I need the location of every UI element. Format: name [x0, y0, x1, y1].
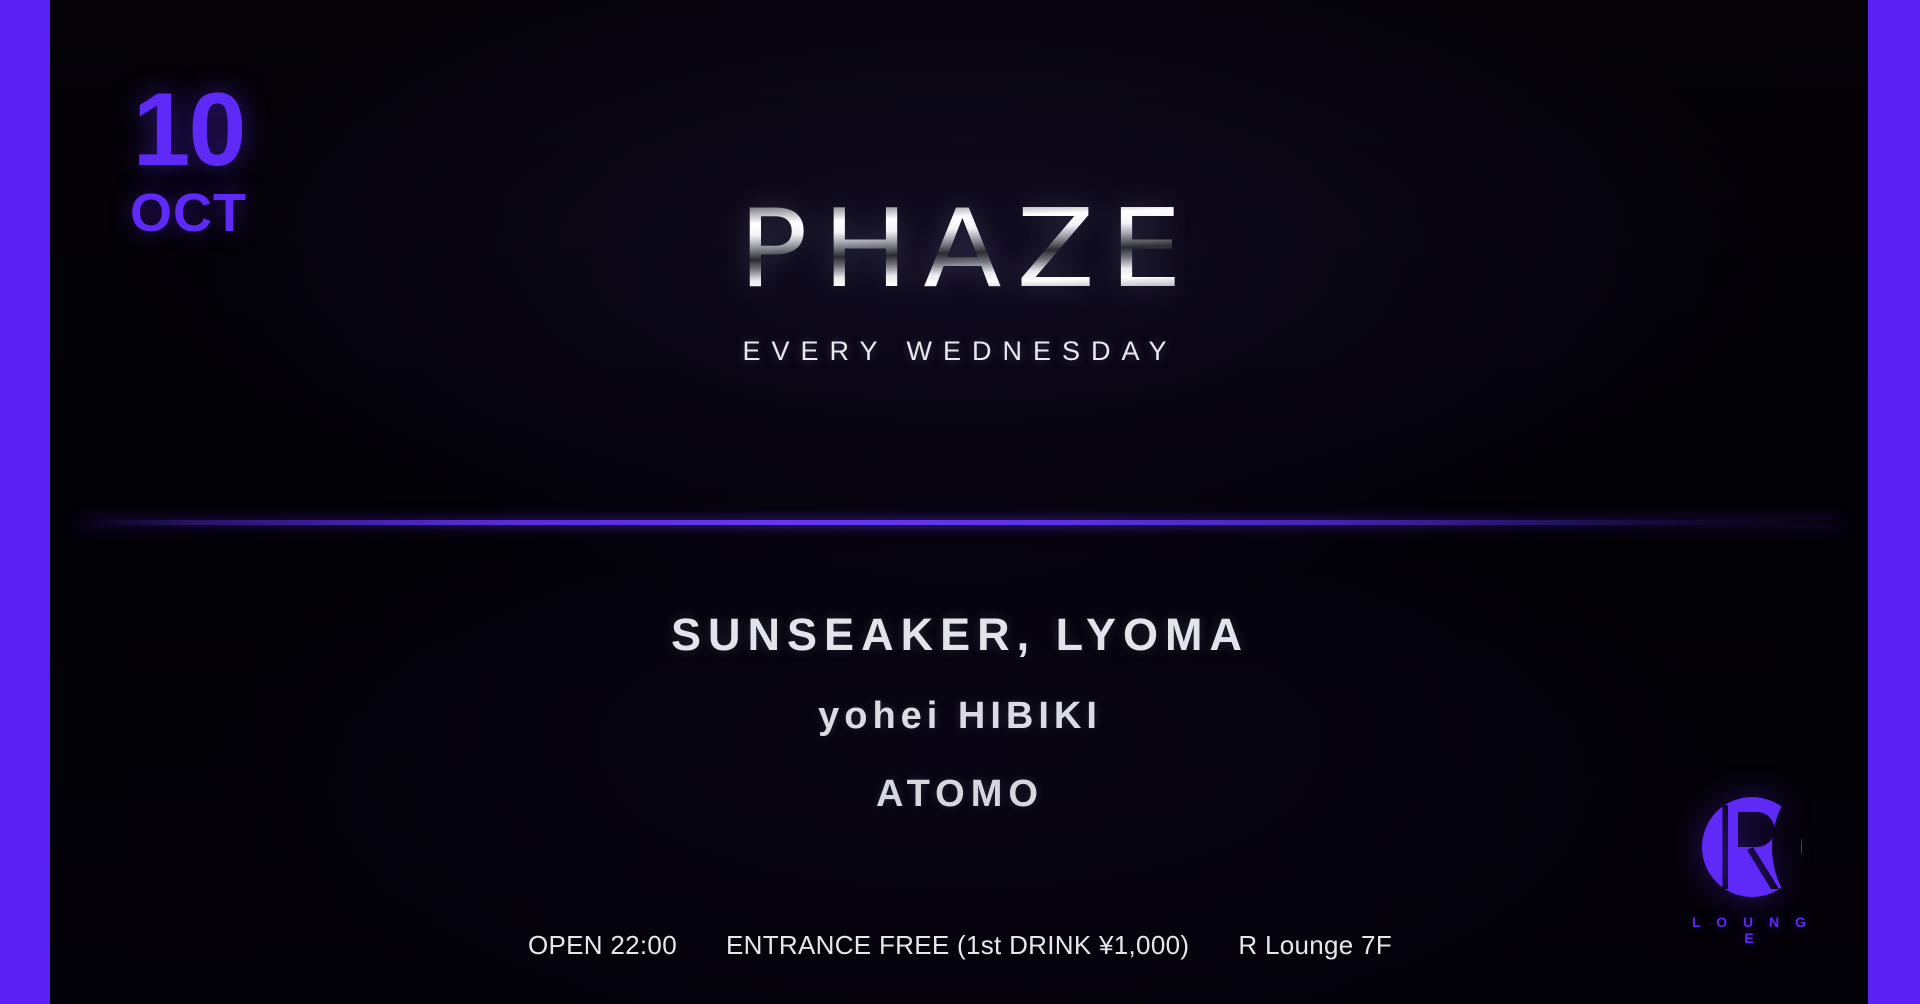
lineup-item: yohei HIBIKI	[0, 697, 1920, 735]
r-lounge-wordmark: L O U N G E	[1688, 914, 1816, 946]
event-tagline: EVERY WEDNESDAY	[0, 336, 1920, 367]
open-time: OPEN 22:00	[528, 930, 677, 961]
right-accent-bar	[1868, 0, 1920, 1004]
r-lounge-circle-mark-icon	[1697, 792, 1807, 902]
venue-name: R Lounge 7F	[1238, 930, 1392, 961]
phaze-logo-wordmark: PHAZE	[723, 196, 1196, 310]
entrance-fee: ENTRANCE FREE (1st DRINK ¥1,000)	[726, 930, 1189, 961]
left-accent-bar	[0, 0, 50, 1004]
event-date-day: 10	[130, 78, 247, 182]
lineup-item: SUNSEAKER, LYOMA	[0, 612, 1920, 657]
background-gradient-wash	[0, 0, 1920, 1004]
section-divider	[78, 520, 1842, 525]
lineup-item: ATOMO	[0, 775, 1920, 813]
artist-lineup: SUNSEAKER, LYOMA yohei HIBIKI ATOMO	[0, 612, 1920, 813]
event-flyer: 10 OCT PHAZE EVERY WEDNESDAY SUNSEAKER, …	[0, 0, 1920, 1004]
hero-block: PHAZE EVERY WEDNESDAY	[0, 196, 1920, 367]
event-details-line: OPEN 22:00 ENTRANCE FREE (1st DRINK ¥1,0…	[0, 930, 1920, 961]
r-lounge-logo: L O U N G E	[1688, 792, 1816, 946]
